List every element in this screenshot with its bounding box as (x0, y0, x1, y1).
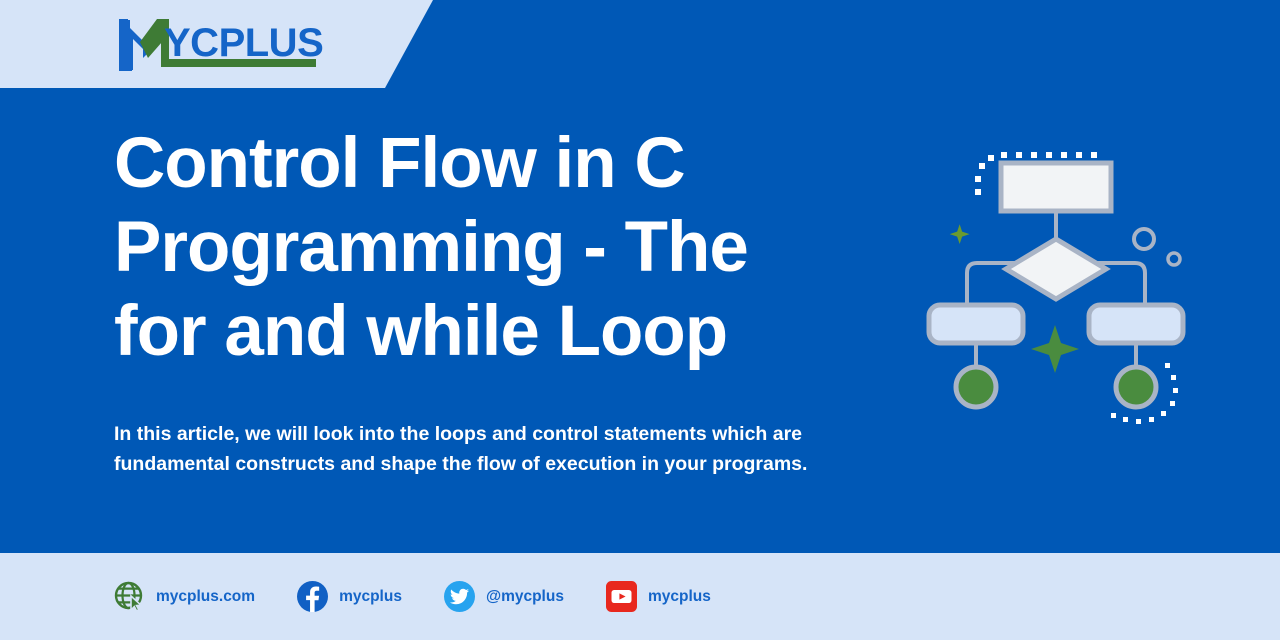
globe-cursor-icon (114, 581, 145, 612)
footer-label-twitter: @mycplus (486, 588, 564, 606)
flowchart-terminator-left (956, 367, 996, 407)
footer-label-facebook: mycplus (339, 588, 402, 606)
logo-wordmark: YCPLUS (164, 23, 323, 63)
flowchart-box-right (1089, 305, 1183, 343)
flowchart-decision-diamond (1006, 239, 1106, 299)
page-subtitle: In this article, we will look into the l… (114, 420, 826, 479)
brand-logo[interactable]: YCPLUS (116, 14, 321, 76)
footer-item-youtube[interactable]: mycplus (606, 581, 711, 612)
flowchart-process-box (1001, 163, 1111, 211)
flowchart-box-left (929, 305, 1023, 343)
footer-label-website: mycplus.com (156, 588, 255, 606)
ring-small-icon (1168, 253, 1180, 265)
footer-label-youtube: mycplus (648, 588, 711, 606)
footer-social-list: mycplus.com mycplus (114, 553, 711, 640)
twitter-icon (444, 581, 475, 612)
flowchart-terminator-right (1116, 367, 1156, 407)
promo-banner: YCPLUS Control Flow in C Programming - T… (0, 0, 1280, 640)
page-title: Control Flow in C Programming - The for … (114, 122, 844, 373)
facebook-icon (297, 581, 328, 612)
footer-item-facebook[interactable]: mycplus (297, 581, 402, 612)
youtube-icon (606, 581, 637, 612)
flowchart-illustration (915, 135, 1215, 435)
ring-large-icon (1134, 229, 1154, 249)
footer-item-twitter[interactable]: @mycplus (444, 581, 564, 612)
sparkle-center (1031, 325, 1079, 373)
footer-bar: mycplus.com mycplus (0, 553, 1280, 640)
footer-item-website[interactable]: mycplus.com (114, 581, 255, 612)
sparkle-left (950, 224, 970, 244)
